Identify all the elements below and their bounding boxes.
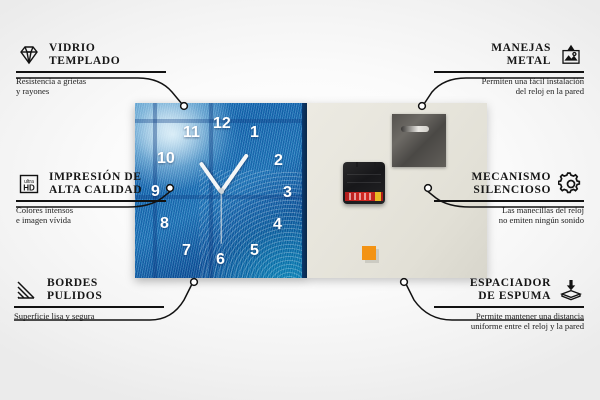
callout-desc-line2: e imagen vívida [16,215,166,226]
callout-title-line1: MANEJAS [491,42,551,55]
clock-numeral-1: 1 [250,125,259,141]
clock-numeral-5: 5 [250,243,259,259]
callout-title-line1: IMPRESIÓN DE [49,171,142,184]
foam-spacer-icon [558,278,584,302]
diamond-icon [16,43,42,67]
foam-spacer [362,246,376,260]
infographic-canvas: 12 1 2 3 4 5 6 7 8 9 10 11 [0,0,600,400]
callout-title-line2: METAL [491,55,551,68]
callout-desc-line2: del reloj en la pared [434,86,584,97]
callout-desc-line2: y rayones [16,86,166,97]
callout-rule [434,200,584,202]
mechanism-ridge [347,182,381,183]
clock-center-hub [219,189,224,194]
callout-desc-line1: Permite mantener una distancia [434,311,584,322]
mechanism-hook [356,162,376,167]
hanger-slot [401,126,429,132]
gear-icon [558,172,584,196]
callout-title-line1: VIDRIO [49,42,120,55]
callout-desc-line2: uniforme entre el reloj y la pared [434,321,584,332]
callout-desc-line1: Resistencia a grietas [16,76,166,87]
metal-hanger-plate [392,114,446,167]
callout-title-line2: TEMPLADO [49,55,120,68]
mechanism-ridge [347,174,381,175]
callout-title-line2: SILENCIOSO [471,184,551,197]
svg-text:HD: HD [23,183,35,192]
callout-desc-line2: no emiten ningún sonido [434,215,584,226]
callout-impresion-alta-calidad[interactable]: ultra HD IMPRESIÓN DE ALTA CALIDAD Color… [16,171,166,226]
callout-title-line2: PULIDOS [47,290,102,303]
callout-rule [16,71,166,73]
callout-desc-line1: Permiten una fácil instalación [434,76,584,87]
mechanism-chip [375,192,381,201]
callout-title-line1: BORDES [47,277,102,290]
callout-title-line1: ESPACIADOR [470,277,551,290]
ultra-hd-icon: ultra HD [16,172,42,196]
connector-dot [401,279,408,286]
callout-title-line1: MECANISMO [471,171,551,184]
clock-numeral-10: 10 [157,151,175,167]
callout-title-line2: ALTA CALIDAD [49,184,142,197]
polished-edge-icon [14,278,40,302]
callout-desc-line1: Colores intensos [16,205,166,216]
clock-numeral-11: 11 [183,125,200,141]
callout-rule [434,71,584,73]
callout-rule [16,200,166,202]
clock-numeral-6: 6 [216,252,225,268]
callout-manejas-metal[interactable]: MANEJAS METAL Permiten una fácil instala… [434,42,584,97]
callout-desc-line1: Superficie lisa y segura [14,311,164,322]
clock-numeral-7: 7 [182,243,191,259]
callout-desc-line1: Las manecillas del reloj [434,205,584,216]
callout-mecanismo-silencioso[interactable]: MECANISMO SILENCIOSO Las manecillas del … [434,171,584,226]
callout-espaciador-espuma[interactable]: ESPACIADOR DE ESPUMA Permite mantener un… [434,277,584,332]
clock-numeral-4: 4 [273,217,282,233]
clock-mechanism [343,162,385,204]
callout-bordes-pulidos[interactable]: BORDES PULIDOS Superficie lisa y segura [14,277,164,321]
callout-rule [434,306,584,308]
clock-numeral-3: 3 [283,185,292,201]
framed-picture-icon [558,43,584,67]
connector-dot [191,279,198,286]
callout-title-line2: DE ESPUMA [470,290,551,303]
clock-numeral-2: 2 [274,153,283,169]
callout-rule [14,306,164,308]
clock-numeral-12: 12 [213,116,231,132]
callout-vidrio-templado[interactable]: VIDRIO TEMPLADO Resistencia a grietas y … [16,42,166,97]
clock-second-hand [220,192,221,244]
